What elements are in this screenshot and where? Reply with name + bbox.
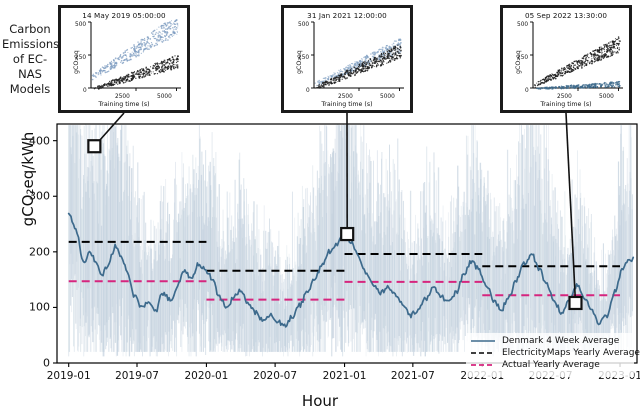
x-axis-label: Hour <box>0 392 640 410</box>
legend-item-denmark: Denmark 4 Week Average <box>470 335 630 347</box>
inset-3-xtick-2500: 2500 <box>557 94 572 100</box>
inset-1-xtick-2500: 2500 <box>115 94 130 100</box>
callout-inset-2: 31 Jan 2021 12:00:00 gCO₂eq Training tim… <box>281 5 413 113</box>
inset-2-ytick-500: 500 <box>298 22 309 28</box>
legend-label-electricitymaps: ElectricityMaps Yearly Average <box>502 348 640 358</box>
inset-2-x-axis-label: Training time (s) <box>284 101 410 108</box>
inset-3-ytick-250: 250 <box>517 55 528 61</box>
legend-key-black-dashed-line <box>470 348 496 358</box>
y-axis-label: gCO₂eq/kWh <box>19 119 37 239</box>
x-axis-tick-2020-07: 2020-07 <box>253 370 297 382</box>
callout-inset-1: 14 May 2019 05:00:00 gCO₂eq Training tim… <box>58 5 190 113</box>
legend-label-actual: Actual Yearly Average <box>502 360 600 370</box>
inset-2-ytick-250: 250 <box>298 55 309 61</box>
inset-1-title: 14 May 2019 05:00:00 <box>61 11 187 20</box>
inset-1-ytick-500: 500 <box>75 22 86 28</box>
inset-3-xtick-5000: 5000 <box>599 94 614 100</box>
inset-3-ytick-500: 500 <box>517 22 528 28</box>
inset-3-y-axis-label: gCO₂eq <box>515 50 522 74</box>
inset-3-ytick-0: 0 <box>525 88 529 94</box>
legend-key-solid-line <box>470 336 496 346</box>
y-axis-tick-200: 200 <box>18 245 50 258</box>
x-axis-tick-2019-01: 2019-01 <box>47 370 91 382</box>
x-axis-tick-2019-07: 2019-07 <box>115 370 159 382</box>
x-axis-tick-2021-07: 2021-07 <box>391 370 435 382</box>
inset-1-x-axis-label: Training time (s) <box>61 101 187 108</box>
inset-2-xtick-5000: 5000 <box>380 94 395 100</box>
x-axis-tick-2021-01: 2021-01 <box>323 370 367 382</box>
inset-2-title: 31 Jan 2021 12:00:00 <box>284 11 410 20</box>
callout-inset-3: 05 Sep 2022 13:30:00 gCO₂eq Training tim… <box>500 5 632 113</box>
chart-legend: Denmark 4 Week Average ElectricityMaps Y… <box>466 333 634 377</box>
legend-item-actual: Actual Yearly Average <box>470 359 630 371</box>
legend-key-magenta-dashed-line <box>470 360 496 370</box>
inset-1-y-axis-label: gCO₂eq <box>73 50 80 74</box>
x-axis-tick-2020-01: 2020-01 <box>184 370 228 382</box>
inset-3-x-axis-label: Training time (s) <box>503 101 629 108</box>
inset-1-ytick-250: 250 <box>75 55 86 61</box>
inset-1-ytick-0: 0 <box>83 88 87 94</box>
legend-label-denmark: Denmark 4 Week Average <box>502 336 619 346</box>
inset-2-ytick-0: 0 <box>306 88 310 94</box>
y-axis-tick-0: 0 <box>18 357 50 370</box>
legend-item-electricitymaps: ElectricityMaps Yearly Average <box>470 347 630 359</box>
inset-2-xtick-2500: 2500 <box>338 94 353 100</box>
inset-2-y-axis-label: gCO₂eq <box>296 50 303 74</box>
figure-root: Carbon Emissions of EC-NAS Models 010020… <box>0 0 640 411</box>
y-axis-tick-100: 100 <box>18 301 50 314</box>
inset-3-title: 05 Sep 2022 13:30:00 <box>503 11 629 20</box>
inset-1-xtick-5000: 5000 <box>157 94 172 100</box>
